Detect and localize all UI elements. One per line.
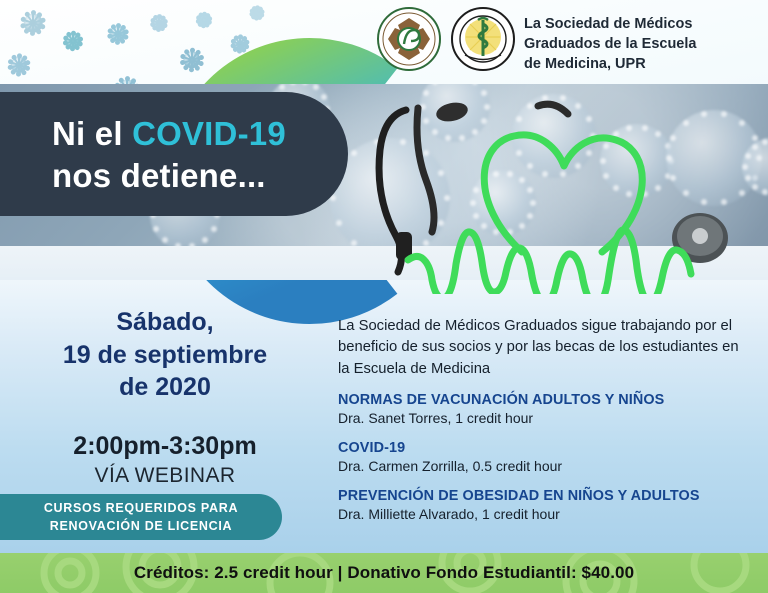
course-title: NORMAS DE VACUNACIÓN ADULTOS Y NIÑOS: [338, 392, 758, 408]
date-line-2: 19 de septiembre: [0, 339, 330, 372]
event-modality: VÍA WEBINAR: [0, 464, 330, 488]
title-covid-word: COVID-19: [132, 115, 286, 152]
virus-particle: [62, 30, 84, 52]
org-line-3: de Medicina, UPR: [524, 54, 764, 74]
title-line-2: nos detiene...: [52, 157, 266, 195]
license-renewal-badge: CURSOS REQUERIDOS PARA RENOVACIÓN DE LIC…: [0, 494, 282, 540]
virus-particle: [18, 8, 48, 38]
event-date: Sábado, 19 de septiembre de 2020: [0, 306, 330, 404]
course-item: PREVENCIÓN DE OBESIDAD EN NIÑOS Y ADULTO…: [338, 488, 758, 522]
event-time: 2:00pm-3:30pm: [0, 432, 330, 461]
header-logo-group: [376, 6, 516, 77]
course-item: COVID-19 Dra. Carmen Zorrilla, 0.5 credi…: [338, 440, 758, 474]
org-line-2: Graduados de la Escuela: [524, 34, 764, 54]
title-line-1: Ni el COVID-19: [52, 115, 286, 153]
virus-particle: [106, 22, 130, 46]
course-list: NORMAS DE VACUNACIÓN ADULTOS Y NIÑOS Dra…: [338, 392, 758, 536]
org-line-1: La Sociedad de Médicos: [524, 14, 764, 34]
course-speaker: Dra. Carmen Zorrilla, 0.5 credit hour: [338, 458, 758, 474]
sociedad-medicos-graduados-seal-icon: [376, 6, 442, 77]
escuela-de-medicina-seal-icon: [450, 6, 516, 77]
badge-line-2: RENOVACIÓN DE LICENCIA: [50, 517, 233, 535]
footer-banner: Créditos: 2.5 credit hour | Donativo Fon…: [0, 553, 768, 593]
title-prefix: Ni el: [52, 115, 132, 152]
virus-particle: [250, 6, 264, 20]
date-line-1: Sábado,: [0, 306, 330, 339]
date-line-3: de 2020: [0, 371, 330, 404]
course-speaker: Dra. Milliette Alvarado, 1 credit hour: [338, 506, 758, 522]
title-panel: Ni el COVID-19 nos detiene...: [0, 92, 348, 216]
intro-paragraph: La Sociedad de Médicos Graduados sigue t…: [338, 316, 754, 380]
virus-particle: [196, 12, 212, 28]
course-title: PREVENCIÓN DE OBESIDAD EN NIÑOS Y ADULTO…: [338, 488, 758, 504]
course-speaker: Dra. Sanet Torres, 1 credit hour: [338, 410, 758, 426]
course-title: COVID-19: [338, 440, 758, 456]
badge-line-1: CURSOS REQUERIDOS PARA: [44, 499, 238, 517]
course-item: NORMAS DE VACUNACIÓN ADULTOS Y NIÑOS Dra…: [338, 392, 758, 426]
virus-particle: [6, 52, 32, 78]
footer-credits-text: Créditos: 2.5 credit hour | Donativo Fon…: [134, 563, 634, 583]
virus-particle: [150, 14, 168, 32]
organization-name: La Sociedad de Médicos Graduados de la E…: [524, 14, 764, 74]
flyer-canvas: Ni el COVID-19 nos detiene...: [0, 0, 768, 593]
